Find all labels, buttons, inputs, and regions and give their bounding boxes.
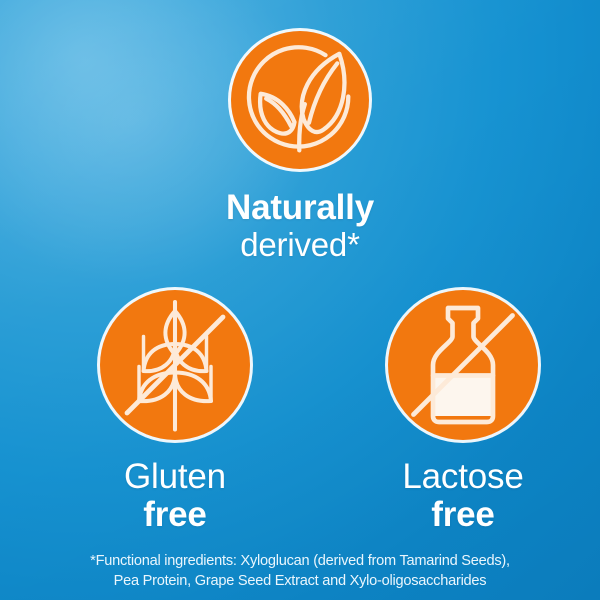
badge-lactose-free: Lactose free	[368, 290, 558, 534]
caption-line-1: Naturally	[226, 190, 374, 226]
badge-gluten-free: Gluten free	[80, 290, 270, 534]
caption-line-2: free	[124, 497, 226, 533]
leaf-sprout-icon	[231, 31, 369, 169]
caption-naturally-derived: Naturally derived*	[226, 190, 374, 263]
caption-line-1: Gluten	[124, 459, 226, 495]
milk-bottle-no-slash-icon	[388, 290, 538, 440]
footnote: *Functional ingredients: Xyloglucan (der…	[0, 552, 600, 591]
caption-line-2: derived*	[226, 228, 374, 262]
wheat-no-slash-icon	[100, 290, 250, 440]
badge-naturally-derived: Naturally derived*	[170, 31, 430, 263]
caption-lactose-free: Lactose free	[402, 459, 523, 534]
footnote-line-2: Pea Protein, Grape Seed Extract and Xylo…	[18, 572, 582, 591]
caption-line-1: Lactose	[402, 459, 523, 495]
badge-disc-gluten-free	[100, 290, 250, 440]
promo-graphic: Naturally derived*	[0, 0, 600, 600]
badge-disc-lactose-free	[388, 290, 538, 440]
badge-disc-naturally-derived	[231, 31, 369, 169]
caption-line-2: free	[402, 497, 523, 533]
caption-gluten-free: Gluten free	[124, 459, 226, 534]
footnote-line-1: *Functional ingredients: Xyloglucan (der…	[18, 552, 582, 571]
